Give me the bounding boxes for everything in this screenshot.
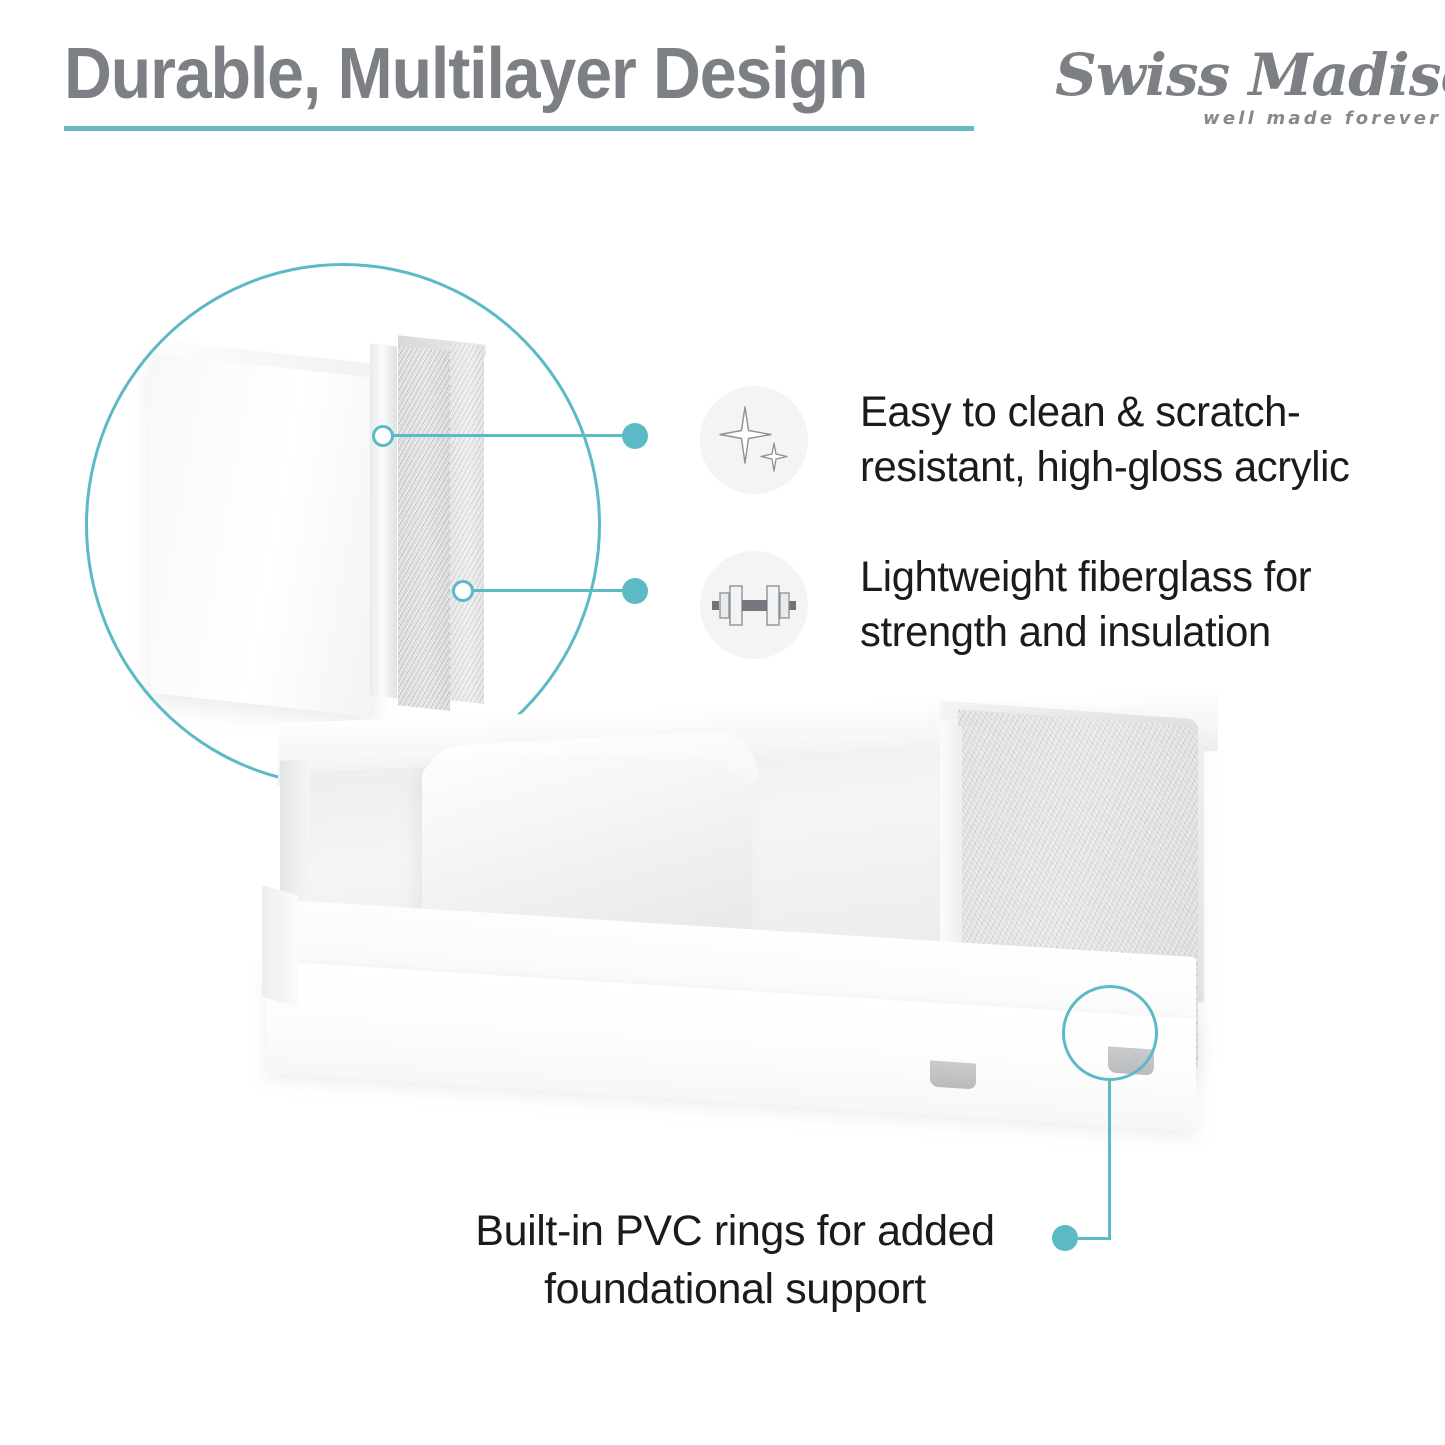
callout-dot-acrylic: [622, 423, 648, 449]
callout-anchor-fiberglass: [452, 580, 474, 602]
title-underline: [64, 126, 974, 131]
callout-line-fiberglass: [472, 589, 636, 592]
dumbbell-icon: [700, 551, 808, 659]
base-left-lip: [262, 885, 298, 1007]
callout-dot-fiberglass: [622, 578, 648, 604]
feature-row-fiberglass: Lightweight fiberglass for strength and …: [700, 550, 1400, 660]
brand-tagline: well made forever: [1203, 108, 1441, 129]
feature-text-fiberglass: Lightweight fiberglass for strength and …: [860, 550, 1384, 660]
infographic-canvas: Durable, Multilayer Design Swiss Madison…: [0, 0, 1445, 1445]
bottom-caption: Built-in PVC rings for added foundationa…: [430, 1202, 1040, 1318]
pvc-callout-line-horizontal: [1078, 1237, 1111, 1240]
sparkle-icon: [700, 386, 808, 494]
registered-mark-icon: ®: [1393, 62, 1404, 79]
callout-anchor-acrylic: [372, 425, 394, 447]
brand-name: Swiss Madison: [1055, 44, 1385, 106]
brand-logo: Swiss Madison ® well made forever: [1055, 48, 1410, 144]
pvc-callout-line-vertical: [1108, 1081, 1111, 1239]
shower-base-image: [240, 660, 1220, 1200]
feature-row-acrylic: Easy to clean & scratch-resistant, high-…: [700, 385, 1400, 495]
header: Durable, Multilayer Design Swiss Madison…: [0, 0, 1445, 170]
pvc-ring-foot-left: [930, 1060, 976, 1089]
page-title: Durable, Multilayer Design: [64, 36, 867, 112]
callout-line-acrylic: [392, 434, 636, 437]
feature-text-acrylic: Easy to clean & scratch-resistant, high-…: [860, 385, 1384, 495]
pvc-ring-highlight-circle: [1062, 985, 1158, 1081]
pvc-callout-dot: [1052, 1225, 1078, 1251]
